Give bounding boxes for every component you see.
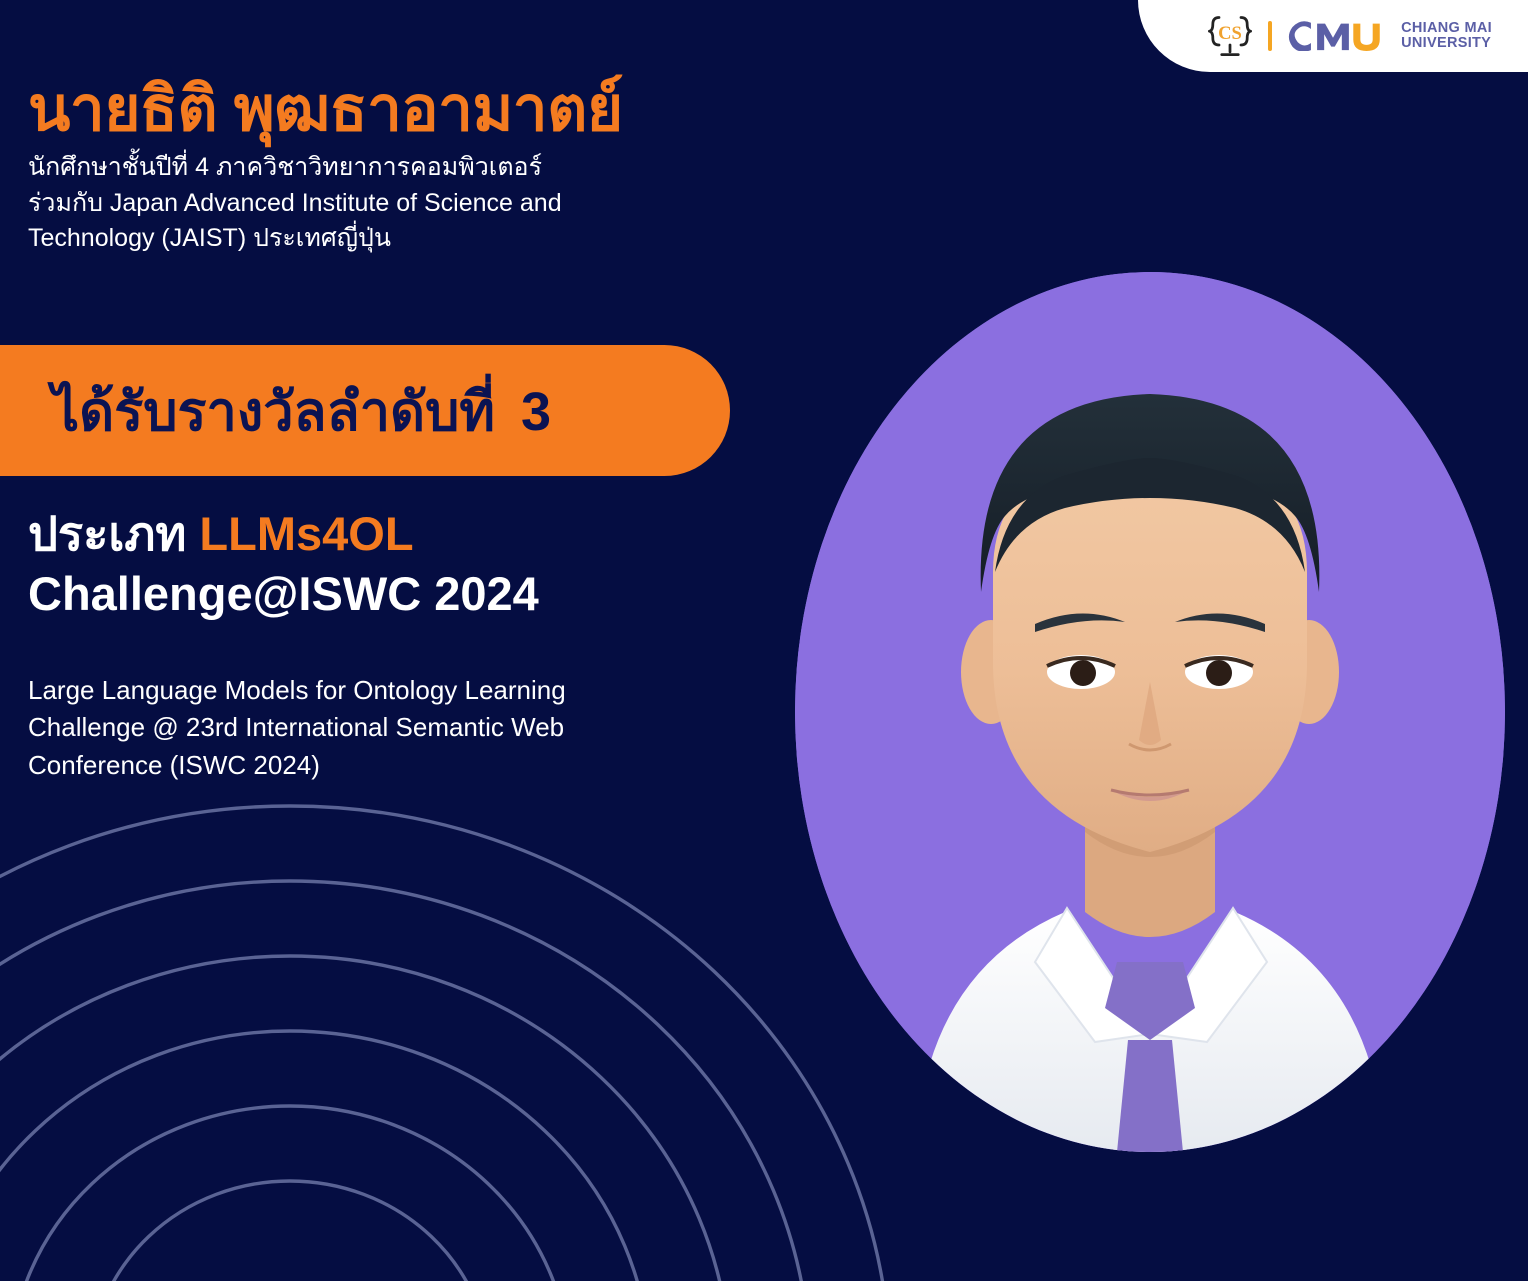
description-line-1: Large Language Models for Ontology Learn…	[28, 672, 728, 709]
svg-text:CS: CS	[1218, 23, 1242, 44]
category-highlight: LLMs4OL	[199, 507, 413, 560]
award-poster: CS CHIANG MAI UNIVERSITY นายธิติ พุฒธาอา…	[0, 0, 1528, 1281]
cmu-line-1: CHIANG MAI	[1401, 21, 1492, 36]
category-line-2: Challenge@ISWC 2024	[28, 564, 768, 624]
cmu-university-logo: CHIANG MAI UNIVERSITY	[1288, 19, 1492, 53]
affiliation-line-1: นักศึกษาชั้นปีที่ 4 ภาควิชาวิทยาการคอมพิ…	[28, 150, 700, 186]
award-rank: 3	[521, 382, 551, 442]
award-category: ประเภท LLMs4OL Challenge@ISWC 2024	[28, 504, 768, 624]
award-badge-text: ได้รับรางวัลลำดับที่3	[0, 368, 551, 454]
category-line-1: ประเภท LLMs4OL	[28, 504, 768, 564]
brand-divider	[1268, 21, 1272, 51]
cmu-line-2: UNIVERSITY	[1401, 36, 1492, 51]
award-description: Large Language Models for Ontology Learn…	[28, 672, 728, 784]
category-prefix: ประเภท	[28, 507, 186, 560]
cmu-mark-icon	[1288, 21, 1392, 51]
brand-bar: CS CHIANG MAI UNIVERSITY	[1138, 0, 1528, 72]
award-label: ได้รับรางวัลลำดับที่	[52, 382, 495, 442]
award-badge: ได้รับรางวัลลำดับที่3	[0, 345, 730, 476]
description-line-3: Conference (ISWC 2024)	[28, 747, 728, 784]
description-line-2: Challenge @ 23rd International Semantic …	[28, 709, 728, 746]
affiliation-block: นักศึกษาชั้นปีที่ 4 ภาควิชาวิทยาการคอมพิ…	[0, 142, 700, 257]
affiliation-line-3: Technology (JAIST) ประเทศญี่ปุ่น	[28, 221, 700, 257]
student-portrait	[795, 272, 1505, 1152]
cs-department-logo: CS	[1208, 13, 1252, 59]
page-title: นายธิติ พุฒธาอามาตย์	[0, 0, 800, 142]
affiliation-line-2: ร่วมกับ Japan Advanced Institute of Scie…	[28, 186, 700, 222]
content-column: นายธิติ พุฒธาอามาตย์ นักศึกษาชั้นปีที่ 4…	[0, 0, 800, 257]
